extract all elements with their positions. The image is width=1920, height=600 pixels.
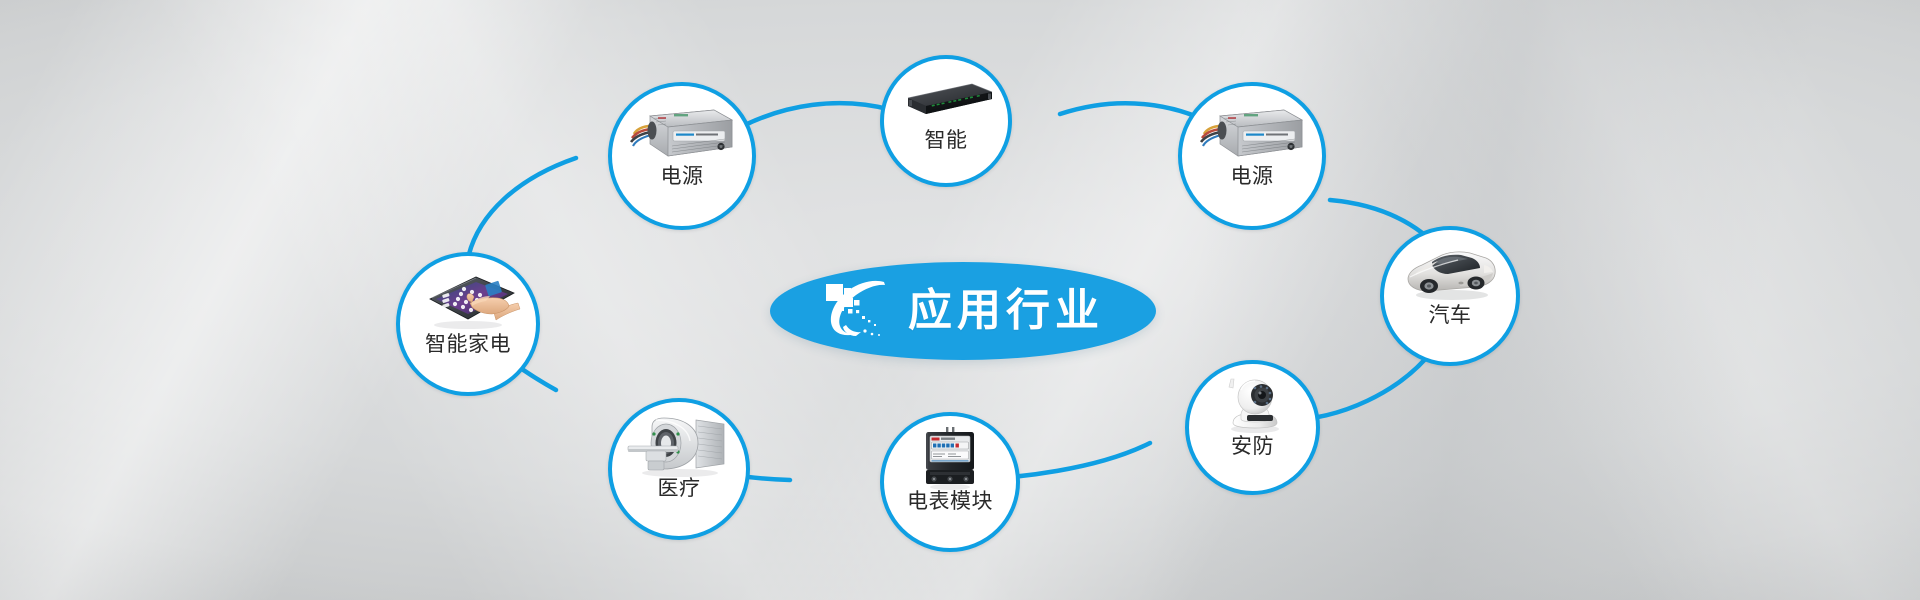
link-appliance-to-power-left — [468, 158, 576, 258]
node-smart-appliance[interactable]: 智能家电 — [396, 252, 540, 396]
tablet-touch-icon — [400, 256, 536, 334]
badge-label: 应用行业 — [908, 289, 1104, 333]
node-label: 医疗 — [658, 478, 701, 499]
node-label: 安防 — [1231, 436, 1274, 457]
node-security[interactable]: 安防 — [1185, 360, 1320, 495]
pixel-swoosh-logo-icon — [822, 278, 892, 344]
node-power-top-right[interactable]: 电源 — [1178, 82, 1326, 230]
node-label: 电表模块 — [907, 491, 993, 512]
node-label: 电源 — [661, 166, 704, 187]
node-meter-module[interactable]: 电表模块 — [880, 412, 1020, 552]
application-industries-infographic: 电源 — [0, 0, 1920, 600]
ct-scanner-icon — [612, 402, 746, 478]
rack-server-icon — [884, 59, 1008, 130]
node-smart[interactable]: 智能 — [880, 55, 1012, 187]
node-label: 智能 — [925, 130, 968, 151]
node-medical[interactable]: 医疗 — [608, 398, 750, 540]
sports-car-icon — [1384, 230, 1516, 305]
node-label: 电源 — [1231, 166, 1274, 187]
node-power-top-left[interactable]: 电源 — [608, 82, 756, 230]
pc-power-supply-icon — [1182, 86, 1322, 166]
pc-power-supply-icon — [612, 86, 752, 166]
node-label: 汽车 — [1429, 305, 1472, 326]
node-automotive[interactable]: 汽车 — [1380, 226, 1520, 366]
center-badge: 应用行业 — [770, 262, 1156, 360]
node-label: 智能家电 — [425, 334, 511, 355]
ip-camera-icon — [1189, 364, 1316, 436]
electric-meter-icon — [884, 416, 1016, 491]
